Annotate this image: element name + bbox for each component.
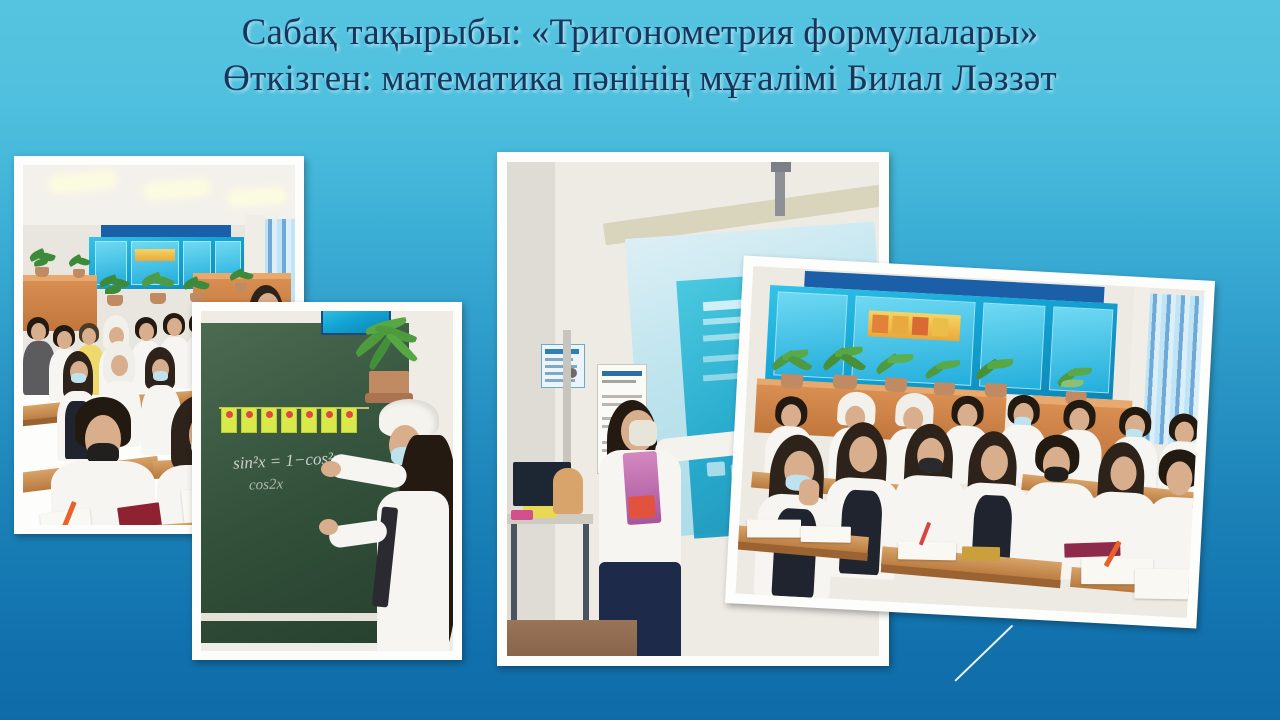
title-line-1: Сабақ тақырыбы: «Тригонометрия формулала…	[0, 10, 1280, 56]
decorative-diagonal-line-bottom	[955, 620, 1075, 700]
photo-blackboard-writing: sin²x = 1−cos²x cos2x	[192, 302, 462, 660]
title-line-2: Өткізген: математика пәнінің мұғалімі Би…	[0, 56, 1280, 102]
slide-title-block: Сабақ тақырыбы: «Тригонометрия формулала…	[0, 10, 1280, 102]
blackboard-scene: sin²x = 1−cos²x cos2x	[201, 311, 453, 651]
photo-students-desks	[725, 255, 1215, 628]
students-desks-scene	[735, 266, 1204, 618]
